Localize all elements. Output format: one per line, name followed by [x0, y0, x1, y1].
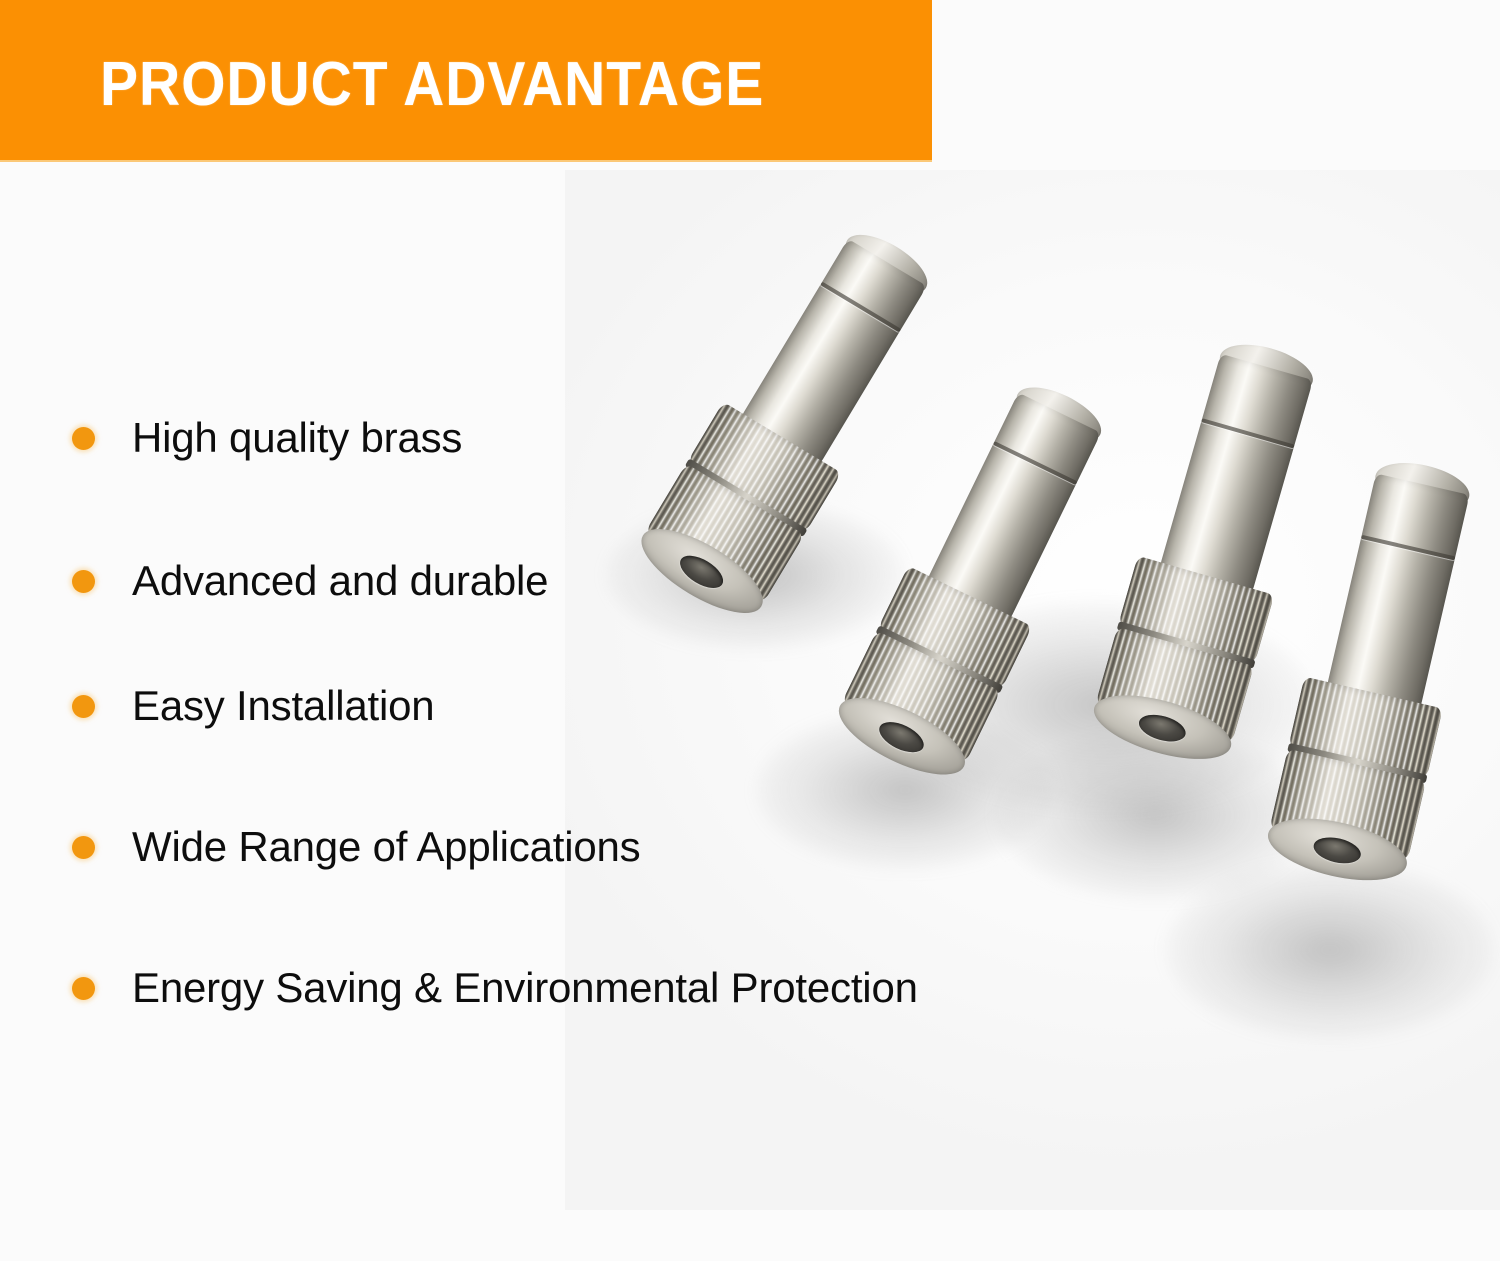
feature-label: Energy Saving & Environmental Protection	[132, 962, 918, 1014]
bullet-dot-icon	[72, 977, 95, 1000]
page-title: PRODUCT ADVANTAGE	[100, 50, 764, 120]
feature-label: Advanced and durable	[132, 555, 548, 607]
bullet-dot-icon	[72, 836, 95, 859]
list-item: Energy Saving & Environmental Protection	[72, 962, 918, 1014]
product-advantage-page: PRODUCT ADVANTAGE	[0, 0, 1500, 1261]
bullet-dot-icon	[72, 427, 95, 450]
nozzle-shank	[1326, 473, 1469, 711]
feature-label: Easy Installation	[132, 680, 434, 732]
bullet-dot-icon	[72, 570, 95, 593]
list-item: Easy Installation	[72, 680, 434, 732]
list-item: Advanced and durable	[72, 555, 548, 607]
feature-label: High quality brass	[132, 412, 462, 464]
list-item: High quality brass	[72, 412, 462, 464]
product-photo	[565, 170, 1500, 1210]
bullet-dot-icon	[72, 695, 95, 718]
header-banner: PRODUCT ADVANTAGE	[0, 0, 932, 160]
feature-label: Wide Range of Applications	[132, 821, 640, 873]
list-item: Wide Range of Applications	[72, 821, 640, 873]
